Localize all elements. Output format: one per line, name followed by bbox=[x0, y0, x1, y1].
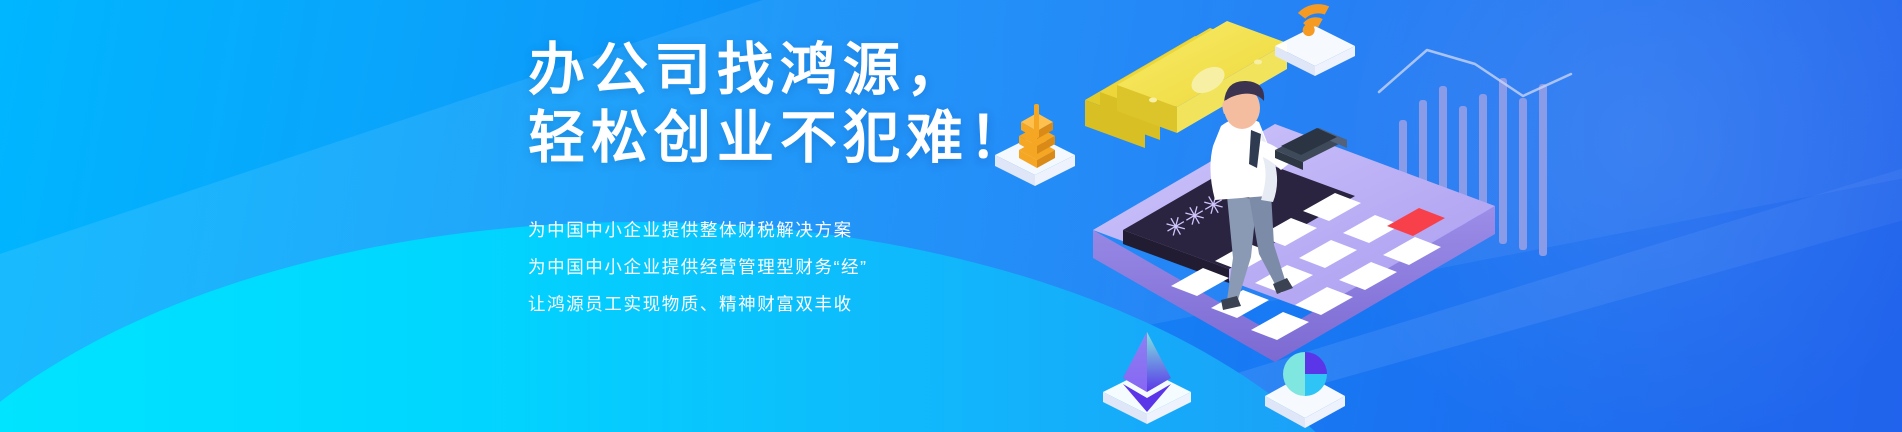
pie-chart-icon bbox=[1265, 352, 1345, 428]
isometric-finance-illustration: ✳✳✳✳ bbox=[975, 0, 1575, 432]
coin-stack-icon bbox=[995, 104, 1075, 186]
promo-banner: 办公司找鸿源， 轻松创业不犯难！ 为中国中小企业提供整体财税解决方案 为中国中小… bbox=[0, 0, 1902, 432]
ethereum-icon bbox=[1103, 332, 1191, 424]
